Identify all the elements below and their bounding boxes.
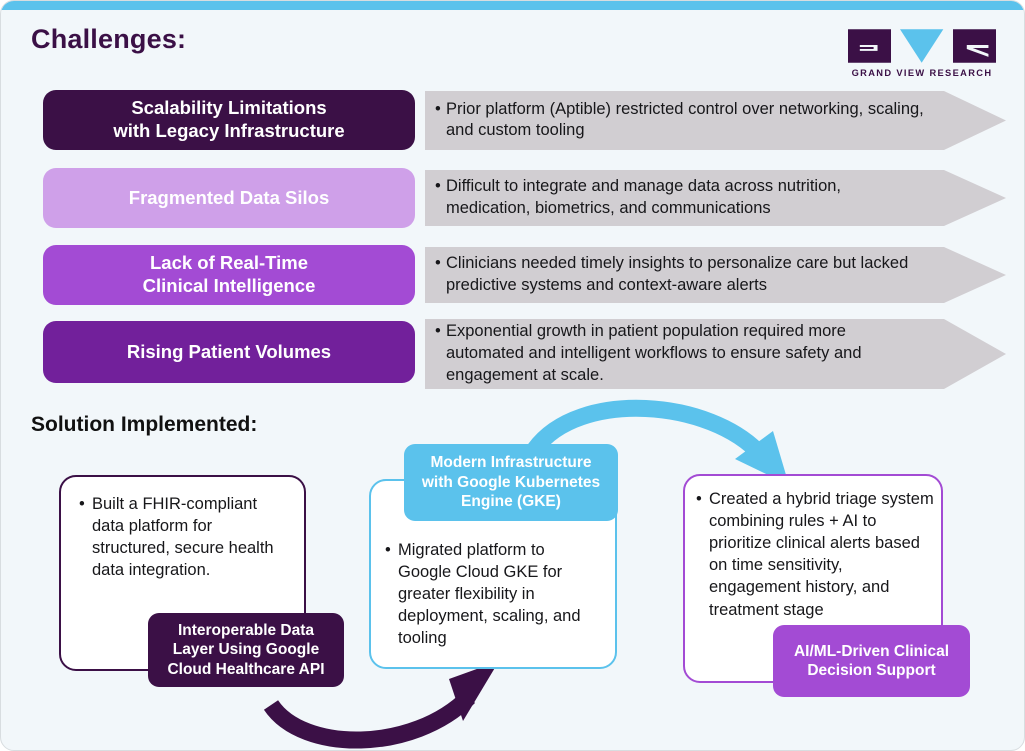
challenge-detail-arrow-1: •Prior platform (Aptible) restricted con… <box>425 91 1006 150</box>
challenge-detail-arrow-4: •Exponential growth in patient populatio… <box>425 319 1006 389</box>
bullet-icon: • <box>79 493 85 515</box>
logo-wordmark: GRAND VIEW RESEARCH <box>848 68 996 78</box>
challenge-detail-text-4: •Exponential growth in patient populatio… <box>435 321 925 387</box>
logo-g-mark <box>848 29 891 63</box>
challenge-detail-body-1: Prior platform (Aptible) restricted cont… <box>435 99 925 143</box>
solution-badge-3-line1: AI/ML-Driven Clinical <box>794 642 949 661</box>
challenge-detail-text-3: •Clinicians needed timely insights to pe… <box>435 253 925 297</box>
slide-canvas: Challenges: Solution Implemented: GRAND … <box>0 0 1025 751</box>
solution-badge-3-line2: Decision Support <box>807 661 935 680</box>
logo-v-mark <box>900 29 943 63</box>
bullet-icon: • <box>385 539 391 561</box>
logo-r-mark <box>953 29 996 63</box>
solution-badge-2-line3: Engine (GKE) <box>461 492 561 511</box>
challenge-detail-body-4: Exponential growth in patient population… <box>435 321 925 387</box>
bullet-icon: • <box>435 99 441 121</box>
challenge-label-text-3: Lack of Real-TimeClinical Intelligence <box>143 252 316 297</box>
solution-card-1-text: • Built a FHIR-compliant data platform f… <box>79 493 291 581</box>
challenge-detail-text-1: •Prior platform (Aptible) restricted con… <box>435 99 925 143</box>
accent-top-bar <box>1 1 1024 10</box>
solution-badge-3[interactable]: AI/ML-Driven Clinical Decision Support <box>773 625 970 697</box>
solution-badge-1-line1: Interoperable Data <box>178 621 314 640</box>
bullet-icon: • <box>435 253 441 275</box>
challenge-label-4[interactable]: Rising Patient Volumes <box>43 321 415 383</box>
logo-marks <box>848 29 996 63</box>
challenge-detail-arrow-3: •Clinicians needed timely insights to pe… <box>425 247 1006 303</box>
solution-badge-1-line2: Layer Using Google <box>173 640 319 659</box>
challenge-label-1[interactable]: Scalability Limitationswith Legacy Infra… <box>43 90 415 150</box>
solution-badge-1-line3: Cloud Healthcare API <box>167 660 324 679</box>
challenge-detail-body-2: Difficult to integrate and manage data a… <box>435 176 925 220</box>
solution-card-2-text: • Migrated platform to Google Cloud GKE … <box>385 539 601 650</box>
challenge-detail-text-2: •Difficult to integrate and manage data … <box>435 176 925 220</box>
solution-badge-2-line1: Modern Infrastructure <box>430 453 591 472</box>
challenge-label-text-2: Fragmented Data Silos <box>129 187 329 210</box>
bullet-icon: • <box>435 176 441 198</box>
solution-badge-1[interactable]: Interoperable Data Layer Using Google Cl… <box>148 613 344 687</box>
challenge-detail-body-3: Clinicians needed timely insights to per… <box>435 253 925 297</box>
bullet-icon: • <box>696 488 702 510</box>
solution-badge-2-line2: with Google Kubernetes <box>422 473 600 492</box>
grand-view-research-logo: GRAND VIEW RESEARCH <box>848 29 996 78</box>
challenge-label-text-1: Scalability Limitationswith Legacy Infra… <box>113 97 344 142</box>
challenge-detail-arrow-2: •Difficult to integrate and manage data … <box>425 170 1006 226</box>
challenge-label-2[interactable]: Fragmented Data Silos <box>43 168 415 228</box>
solution-card-3-text: • Created a hybrid triage system combini… <box>696 488 934 621</box>
bullet-icon: • <box>435 321 441 343</box>
page-title-challenges: Challenges: <box>31 24 186 55</box>
challenge-label-text-4: Rising Patient Volumes <box>127 341 331 364</box>
section-title-solution: Solution Implemented: <box>31 413 257 437</box>
solution-badge-2[interactable]: Modern Infrastructure with Google Kubern… <box>404 444 618 521</box>
challenge-label-3[interactable]: Lack of Real-TimeClinical Intelligence <box>43 245 415 305</box>
